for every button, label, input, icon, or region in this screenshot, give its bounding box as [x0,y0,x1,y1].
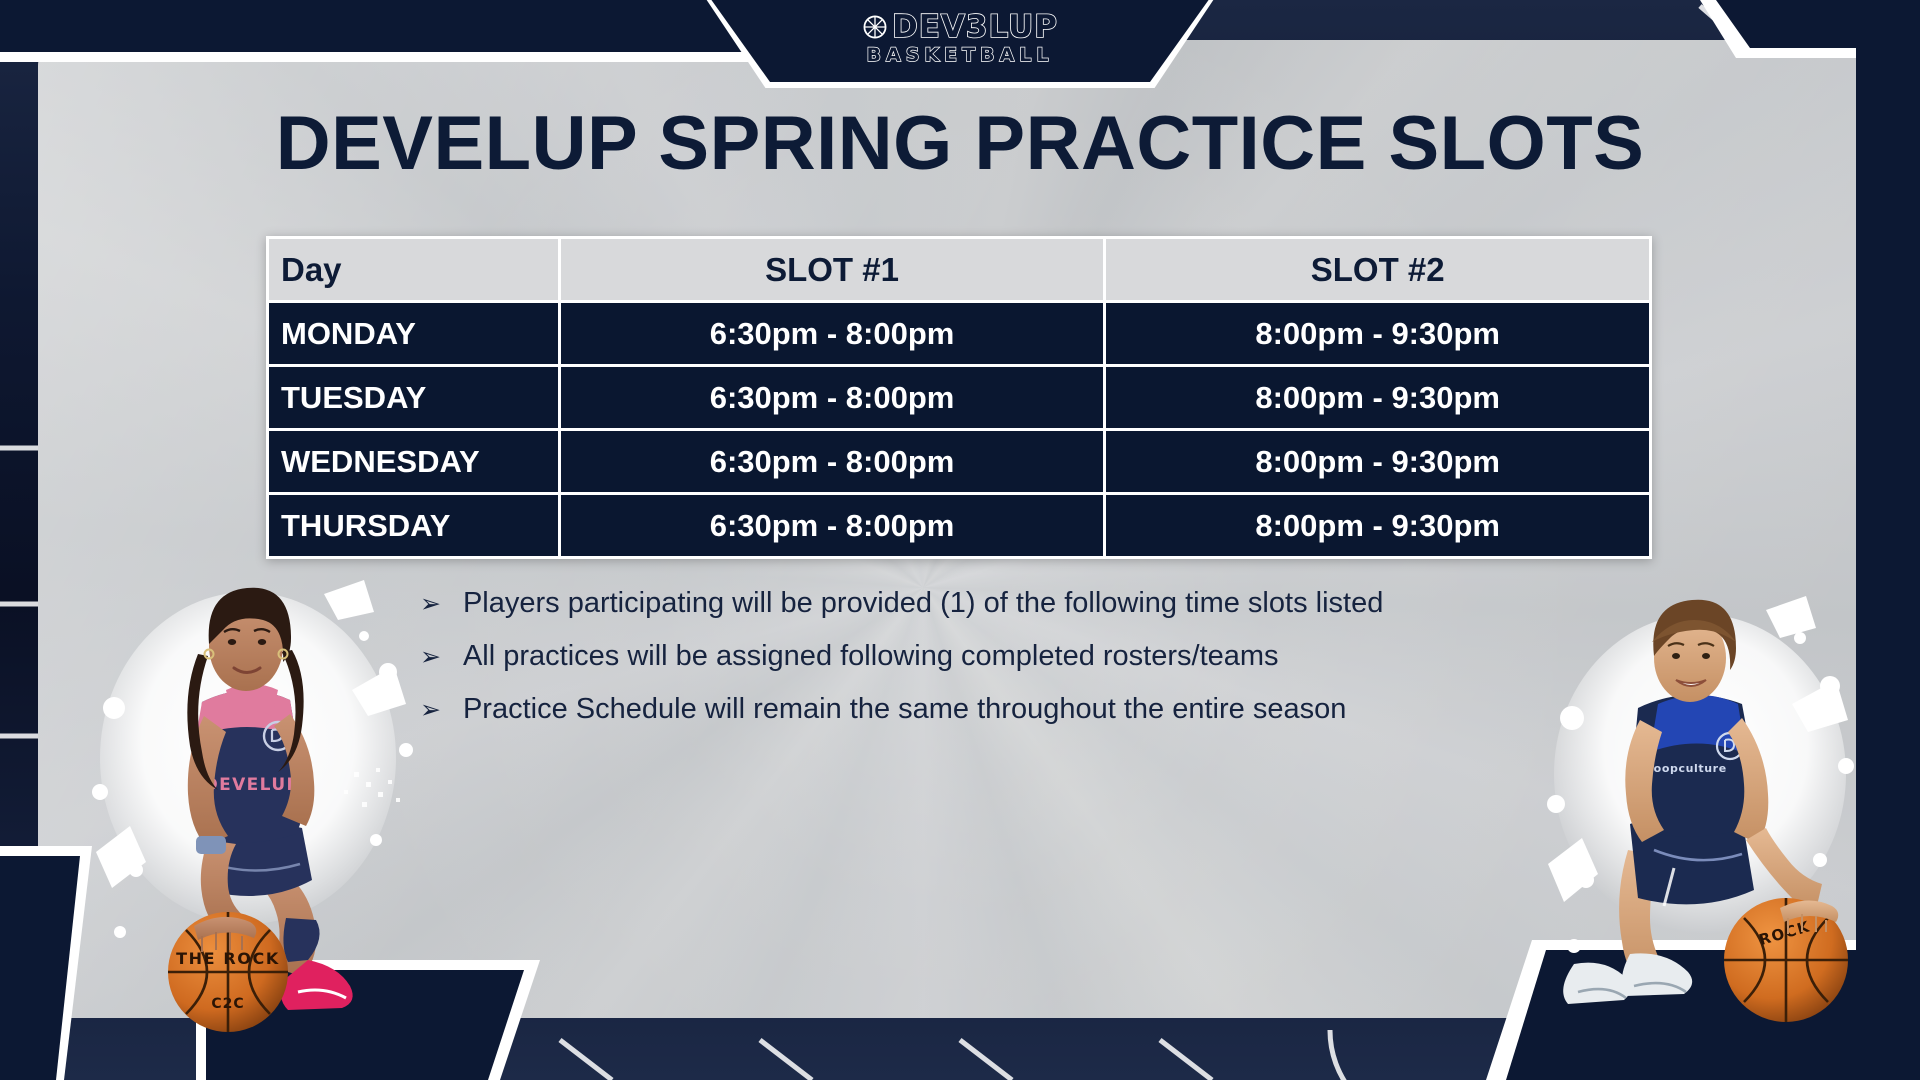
list-item-label: Practice Schedule will remain the same t… [463,691,1346,728]
table-row: MONDAY 6:30pm - 8:00pm 8:00pm - 9:30pm [269,303,1649,364]
cell-slot2: 8:00pm - 9:30pm [1106,495,1649,556]
logo-main-text: DEV3LUP [892,12,1058,43]
table-row: THURSDAY 6:30pm - 8:00pm 8:00pm - 9:30pm [269,495,1649,556]
cell-day: MONDAY [269,303,558,364]
cell-slot1: 6:30pm - 8:00pm [561,431,1104,492]
arrow-bullet-icon: ➢ [420,641,441,673]
cell-day: WEDNESDAY [269,431,558,492]
cell-slot2: 8:00pm - 9:30pm [1106,303,1649,364]
notes-list: ➢ Players participating will be provided… [420,585,1383,744]
cell-day: THURSDAY [269,495,558,556]
corner-shape-bottom-left [0,960,560,1080]
arrow-bullet-icon: ➢ [420,694,441,726]
corner-shape-bottom-right [1300,940,1920,1080]
list-item: ➢ All practices will be assigned followi… [420,638,1383,675]
table-header: Day SLOT #1 SLOT #2 [269,239,1649,300]
page-title: DEVELUP SPRING PRACTICE SLOTS [0,100,1920,187]
column-header-slot1: SLOT #1 [561,239,1104,300]
basketball-icon [862,14,888,40]
cell-slot1: 6:30pm - 8:00pm [561,495,1104,556]
list-item: ➢ Players participating will be provided… [420,585,1383,622]
logo-sub-text: BASKETBALL [862,46,1058,65]
table-header-row: Day SLOT #1 SLOT #2 [269,239,1649,300]
arrow-bullet-icon: ➢ [420,588,441,620]
poster-stage: DEV3LUP BASKETBALL DEVELUP SPRING PRACTI… [0,0,1920,1080]
logo-banner: DEV3LUP BASKETBALL [710,0,1210,82]
column-header-slot2: SLOT #2 [1106,239,1649,300]
cell-slot1: 6:30pm - 8:00pm [561,303,1104,364]
list-item: ➢ Practice Schedule will remain the same… [420,691,1383,728]
column-header-day: Day [269,239,558,300]
cell-slot2: 8:00pm - 9:30pm [1106,431,1649,492]
table-row: WEDNESDAY 6:30pm - 8:00pm 8:00pm - 9:30p… [269,431,1649,492]
list-item-label: Players participating will be provided (… [463,585,1383,622]
practice-schedule-table: Day SLOT #1 SLOT #2 MONDAY 6:30pm - 8:00… [266,236,1652,559]
brand-logo: DEV3LUP BASKETBALL [862,12,1058,69]
cell-slot2: 8:00pm - 9:30pm [1106,367,1649,428]
list-item-label: All practices will be assigned following… [463,638,1279,675]
cell-day: TUESDAY [269,367,558,428]
table-row: TUESDAY 6:30pm - 8:00pm 8:00pm - 9:30pm [269,367,1649,428]
cell-slot1: 6:30pm - 8:00pm [561,367,1104,428]
table-body: MONDAY 6:30pm - 8:00pm 8:00pm - 9:30pm T… [269,303,1649,556]
